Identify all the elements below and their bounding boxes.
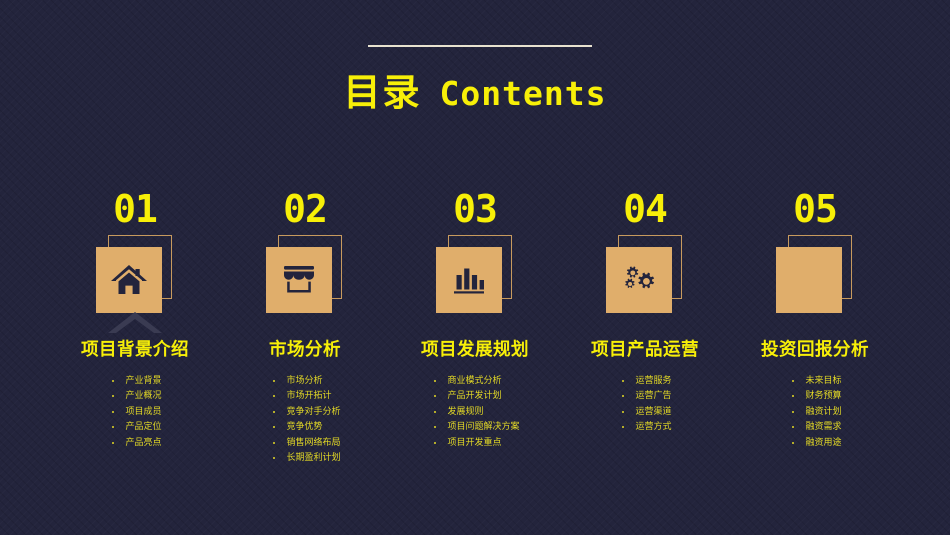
list-item[interactable]: 产业概况 (108, 388, 161, 403)
storefront-icon (280, 263, 318, 297)
contents-item-01[interactable]: 01 项目背景 (55, 190, 215, 450)
tile-fill (606, 247, 672, 313)
bullet-list-05: 未来目标 财务预算 融资计划 融资需求 融资用途 (788, 373, 841, 450)
title-divider-rule (368, 45, 592, 47)
bullet-list-02: 市场分析 市场开拓计 竞争对手分析 竞争优势 销售网络布局 长期盈利计划 (269, 373, 340, 466)
list-item[interactable]: 商业模式分析 (430, 373, 519, 388)
tile-fill (776, 247, 842, 313)
tile-fill (96, 247, 162, 313)
section-number-05: 05 (793, 190, 837, 228)
gears-icon (620, 263, 658, 297)
contents-item-03[interactable]: 03 项目发展规划 商业模式分 (395, 190, 555, 450)
contents-item-04[interactable]: 04 (565, 190, 725, 435)
list-item[interactable]: 运营广告 (618, 388, 671, 403)
tile-fill (266, 247, 332, 313)
section-title-02: 市场分析 (269, 336, 341, 361)
icon-stack-05 (770, 235, 860, 327)
section-title-01: 项目背景介绍 (81, 336, 189, 361)
list-item[interactable]: 项目开发重点 (430, 435, 519, 450)
list-item[interactable]: 项目成员 (108, 404, 161, 419)
bullet-list-01: 产业背景 产业概况 项目成员 产品定位 产品亮点 (108, 373, 161, 450)
slide-canvas: 目录Contents 01 (0, 0, 950, 535)
list-item[interactable]: 产业背景 (108, 373, 161, 388)
list-item[interactable]: 财务预算 (788, 388, 841, 403)
bar-chart-icon (450, 263, 488, 297)
list-item[interactable]: 竞争对手分析 (269, 404, 340, 419)
list-item[interactable]: 融资计划 (788, 404, 841, 419)
contents-item-02[interactable]: 02 市场分析 市场分析 市场开拓计 竞争对手分析 (225, 190, 385, 466)
section-title-04: 项目产品运营 (591, 336, 699, 361)
section-title-05: 投资回报分析 (761, 336, 869, 361)
list-item[interactable]: 运营渠道 (618, 404, 671, 419)
roof-chevron-watermark-icon (104, 309, 166, 335)
list-item[interactable]: 市场分析 (269, 373, 340, 388)
icon-stack-04 (600, 235, 690, 327)
list-item[interactable]: 融资需求 (788, 419, 841, 434)
list-item[interactable]: 融资用途 (788, 435, 841, 450)
section-number-04: 04 (623, 190, 667, 228)
list-item[interactable]: 运营方式 (618, 419, 671, 434)
section-title-03: 项目发展规划 (421, 336, 529, 361)
list-item[interactable]: 市场开拓计 (269, 388, 340, 403)
contents-columns: 01 项目背景 (55, 190, 895, 466)
contents-item-05[interactable]: 05 投资回报分析 未来目标 财务预算 融资计划 融资需求 融资用途 (735, 190, 895, 450)
section-number-01: 01 (113, 190, 157, 228)
house-icon (110, 262, 148, 298)
list-item[interactable]: 项目问题解决方案 (430, 419, 519, 434)
list-item[interactable]: 产品开发计划 (430, 388, 519, 403)
bullet-list-04: 运营服务 运营广告 运营渠道 运营方式 (618, 373, 671, 435)
section-number-02: 02 (283, 190, 327, 228)
bullet-list-03: 商业模式分析 产品开发计划 发展规则 项目问题解决方案 项目开发重点 (430, 373, 519, 450)
tile-fill (436, 247, 502, 313)
slide-title-en: Contents (440, 74, 607, 113)
list-item[interactable]: 产品定位 (108, 419, 161, 434)
slide-title: 目录Contents (0, 62, 950, 116)
list-item[interactable]: 长期盈利计划 (269, 450, 340, 465)
icon-stack-03 (430, 235, 520, 327)
list-item[interactable]: 销售网络布局 (269, 435, 340, 450)
icon-stack-01 (90, 235, 180, 327)
section-number-03: 03 (453, 190, 497, 228)
list-item[interactable]: 运营服务 (618, 373, 671, 388)
list-item[interactable]: 未来目标 (788, 373, 841, 388)
list-item[interactable]: 发展规则 (430, 404, 519, 419)
list-item[interactable]: 竞争优势 (269, 419, 340, 434)
icon-stack-02 (260, 235, 350, 327)
slide-title-cn: 目录 (344, 72, 422, 113)
list-item[interactable]: 产品亮点 (108, 435, 161, 450)
